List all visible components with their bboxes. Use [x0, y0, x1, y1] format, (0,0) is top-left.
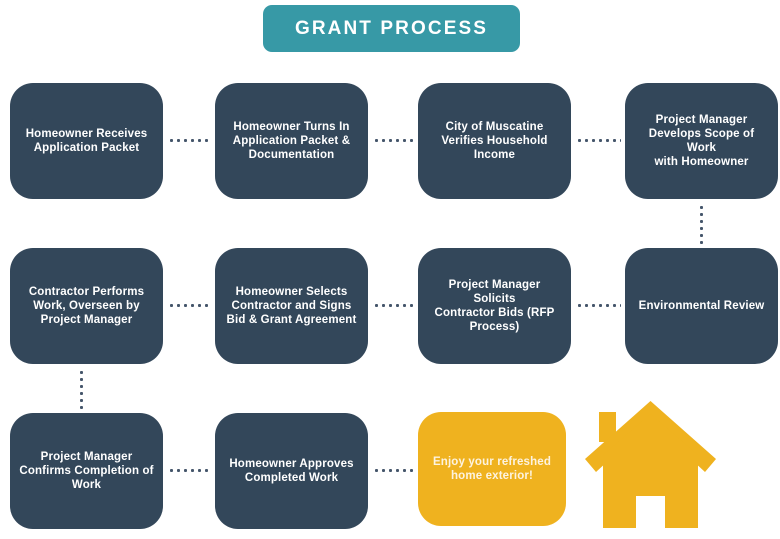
connector-row2-to-row3 [80, 369, 83, 409]
process-step-contractor-performs-work[interactable]: Contractor Performs Work, Overseen by Pr… [10, 248, 163, 364]
process-step-homeowner-turns-in-application-packet[interactable]: Homeowner Turns In Application Packet & … [215, 83, 368, 199]
process-step-homeowner-receives-application-packet[interactable]: Homeowner Receives Application Packet [10, 83, 163, 199]
connector-row2-step5-step6 [576, 304, 621, 307]
process-step-label: Environmental Review [639, 299, 765, 313]
connector-row1-step1-step2 [168, 139, 210, 142]
process-step-homeowner-selects-contractor[interactable]: Homeowner Selects Contractor and Signs B… [215, 248, 368, 364]
process-step-homeowner-approves-completed-work[interactable]: Homeowner Approves Completed Work [215, 413, 368, 529]
process-step-enjoy-refreshed-home-exterior[interactable]: Enjoy your refreshed home exterior! [418, 412, 566, 526]
process-step-label: Homeowner Turns In Application Packet & … [233, 120, 350, 162]
process-step-label: Project Manager Solicits Contractor Bids… [427, 278, 562, 334]
page-title-banner: GRANT PROCESS [263, 5, 520, 52]
process-step-environmental-review[interactable]: Environmental Review [625, 248, 778, 364]
process-step-label: Homeowner Selects Contractor and Signs B… [227, 285, 357, 327]
connector-row1-to-row2 [700, 204, 703, 244]
process-step-label: Homeowner Receives Application Packet [26, 127, 148, 155]
connector-row1-step3-step4 [576, 139, 621, 142]
process-step-project-manager-solicits-contractor-bids[interactable]: Project Manager Solicits Contractor Bids… [418, 248, 571, 364]
process-step-project-manager-confirms-completion[interactable]: Project Manager Confirms Completion of W… [10, 413, 163, 529]
connector-row2-step7-step8 [168, 304, 210, 307]
connector-row2-step6-step7 [373, 304, 414, 307]
grant-process-flowchart: GRANT PROCESS Homeowner Receives Applica… [0, 0, 780, 539]
process-step-label: Enjoy your refreshed home exterior! [433, 455, 551, 483]
page-title: GRANT PROCESS [295, 19, 488, 38]
process-step-label: Homeowner Approves Completed Work [229, 457, 353, 485]
process-step-label: City of Muscatine Verifies Household Inc… [441, 120, 547, 162]
process-step-city-verifies-household-income[interactable]: City of Muscatine Verifies Household Inc… [418, 83, 571, 199]
process-step-label: Project Manager Develops Scope of Work w… [634, 113, 769, 169]
connector-row3-step9-step10 [168, 469, 210, 472]
connector-row1-step2-step3 [373, 139, 414, 142]
process-step-label: Project Manager Confirms Completion of W… [19, 450, 153, 492]
connector-row3-step10-final [373, 469, 414, 472]
process-step-project-manager-develops-scope-of-work[interactable]: Project Manager Develops Scope of Work w… [625, 83, 778, 199]
process-step-label: Contractor Performs Work, Overseen by Pr… [29, 285, 144, 327]
house-icon [583, 400, 718, 530]
